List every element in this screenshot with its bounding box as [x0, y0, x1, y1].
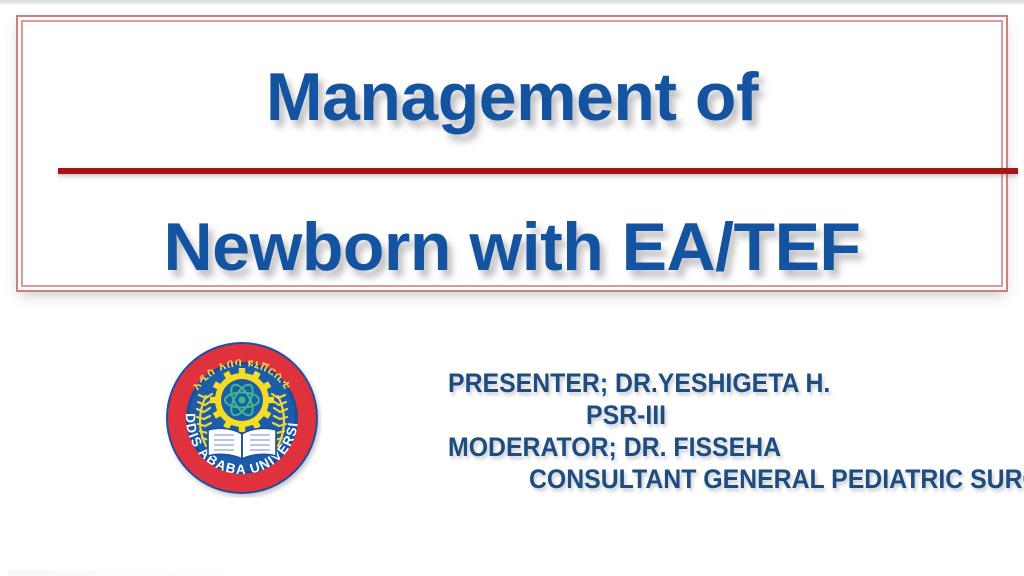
credit-line-moderator-title: CONSULTANT GENERAL PEDIATRIC SURGEON: [448, 464, 963, 496]
top-edge-band: [0, 0, 1024, 5]
credit-line-moderator: MODERATOR; DR. FISSEHA: [448, 432, 963, 464]
bottom-edge-artifact: [8, 570, 248, 576]
addis-ababa-university-seal-icon: አዲስ አበባ ዩኒቨርሲቲ ADDIS ABABA UNIVERSITY: [162, 338, 322, 498]
page-title-line-2: Newborn with EA/TEF: [164, 209, 861, 285]
title-frame: Management of Newborn with EA/TEF: [16, 15, 1008, 292]
page-title-line-1: Management of: [266, 59, 758, 135]
credit-line-presenter-rank: PSR-III: [448, 400, 963, 432]
credits-block: PRESENTER; DR.YESHIGETA H. PSR-III MODER…: [448, 368, 1008, 495]
title-line-2-row: Newborn with EA/TEF: [18, 213, 1006, 281]
university-logo: አዲስ አበባ ዩኒቨርሲቲ ADDIS ABABA UNIVERSITY: [162, 338, 322, 498]
title-line-1-row: Management of: [18, 63, 1006, 131]
credit-line-presenter: PRESENTER; DR.YESHIGETA H.: [448, 368, 963, 400]
title-divider-rule: [58, 168, 1018, 174]
